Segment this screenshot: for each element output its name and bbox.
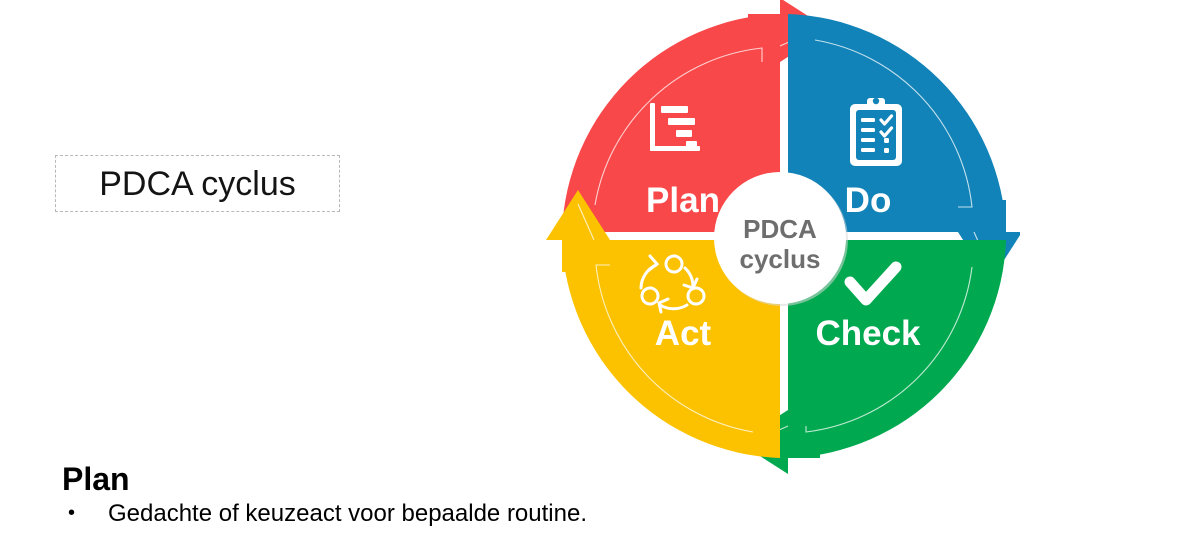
quadrant-label-plan: Plan <box>646 181 720 220</box>
quadrant-label-check: Check <box>815 314 921 353</box>
pdca-cycle-diagram: Plan <box>540 0 1020 480</box>
hub-label-line1: PDCA <box>743 214 817 244</box>
page-title: PDCA cyclus <box>99 167 296 201</box>
quadrant-label-act: Act <box>655 314 712 353</box>
body-heading: Plan <box>62 462 1062 497</box>
bullet-marker: • <box>62 499 108 528</box>
bullet-text: Gedachte of keuzeact voor bepaalde routi… <box>108 499 1062 529</box>
clipboard-checklist-icon <box>850 98 902 166</box>
list-item: • Gedachte of keuzeact voor bepaalde rou… <box>62 499 1062 529</box>
slide-canvas: PDCA cyclus P <box>0 0 1200 550</box>
hub-label-line2: cyclus <box>740 244 821 274</box>
body-text-placeholder[interactable]: Plan • Gedachte of keuzeact voor bepaald… <box>62 462 1062 528</box>
title-placeholder[interactable]: PDCA cyclus <box>55 155 340 212</box>
quadrant-label-do: Do <box>845 181 892 220</box>
